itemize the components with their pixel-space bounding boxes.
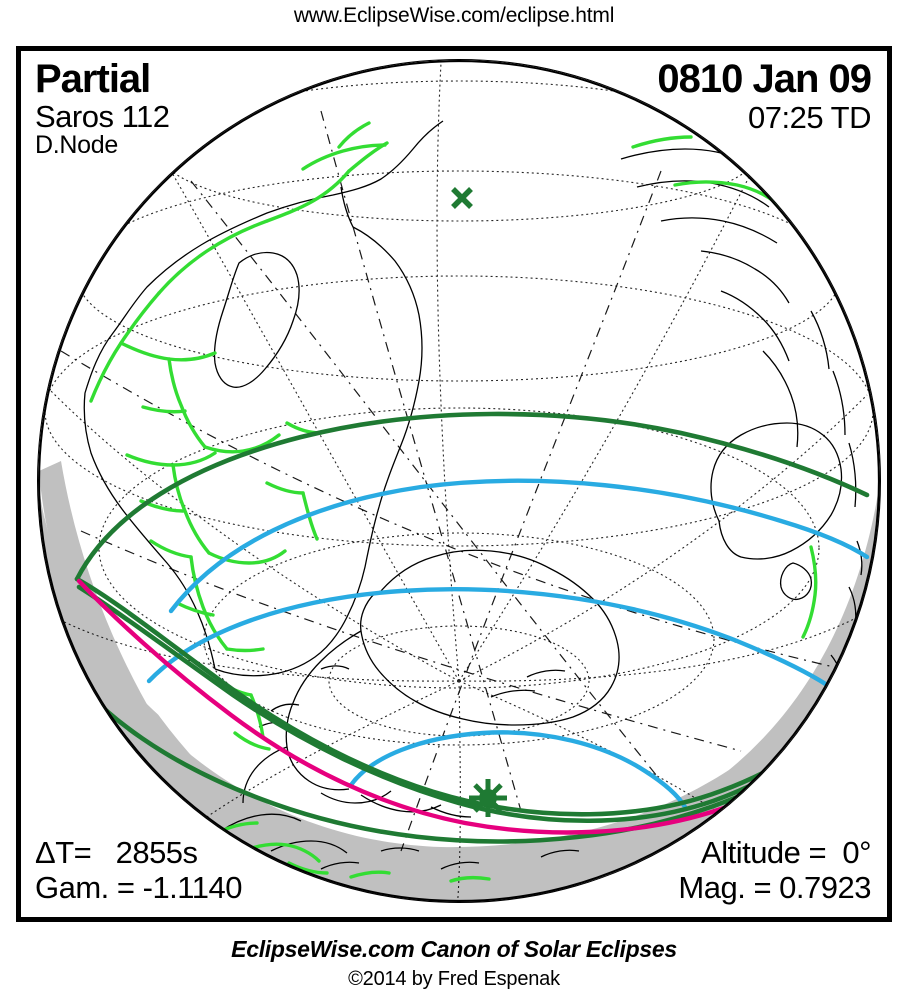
delta-t-label: ΔT= 2855s bbox=[35, 837, 242, 868]
eclipse-identity-block: Partial Saros 112 D.Node bbox=[35, 59, 170, 158]
eclipse-map-frame: Partial Saros 112 D.Node 0810 Jan 09 07:… bbox=[16, 46, 892, 922]
altitude-label: Altitude = 0° bbox=[678, 837, 871, 868]
source-url: www.EclipseWise.com/eclipse.html bbox=[0, 4, 908, 28]
saros-label: Saros 112 bbox=[35, 101, 170, 132]
eclipse-map-page: www.EclipseWise.com/eclipse.html bbox=[0, 0, 908, 1004]
eclipse-datetime-block: 0810 Jan 09 07:25 TD bbox=[657, 59, 871, 133]
node-label: D.Node bbox=[35, 133, 170, 158]
globe-graphic bbox=[21, 51, 887, 917]
gamma-label: Gam. = -1.1140 bbox=[35, 872, 242, 903]
footer-credit: ©2014 by Fred Espenak bbox=[0, 968, 908, 991]
eclipse-parameters-right: Altitude = 0° Mag. = 0.7923 bbox=[678, 837, 871, 907]
eclipse-parameters-left: ΔT= 2855s Gam. = -1.1140 bbox=[35, 837, 242, 907]
magnitude-label: Mag. = 0.7923 bbox=[678, 872, 871, 903]
eclipse-date-label: 0810 Jan 09 bbox=[657, 59, 871, 99]
eclipse-type-label: Partial bbox=[35, 59, 170, 99]
globe-svg bbox=[21, 51, 887, 917]
footer-title: EclipseWise.com Canon of Solar Eclipses bbox=[0, 936, 908, 963]
eclipse-time-label: 07:25 TD bbox=[657, 102, 871, 133]
